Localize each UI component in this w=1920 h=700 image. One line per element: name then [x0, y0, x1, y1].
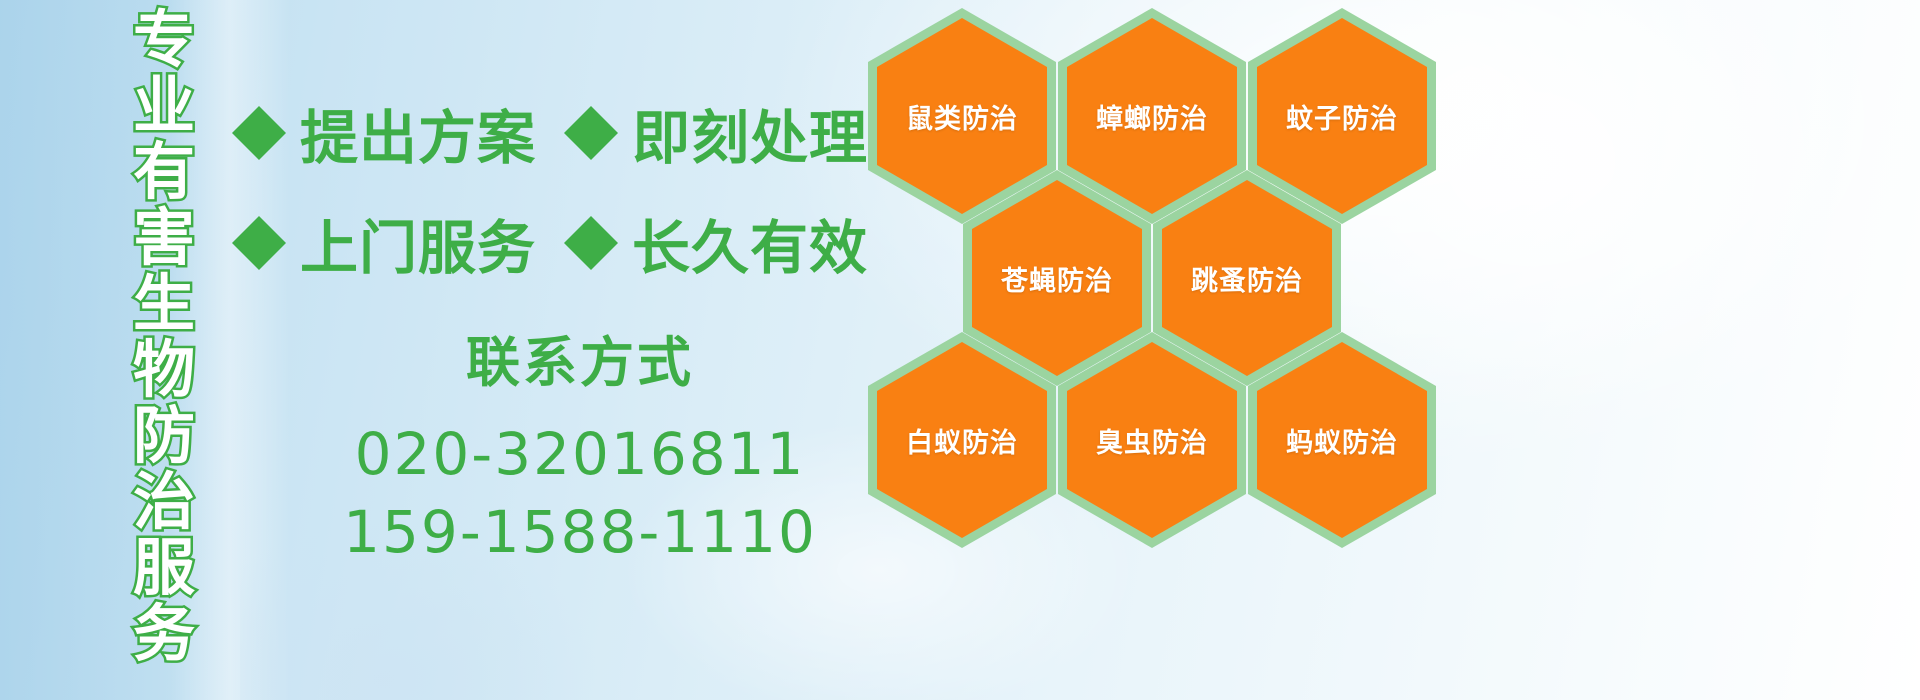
diamond-icon — [564, 189, 618, 243]
service-label: 白蚁防治 — [906, 421, 1018, 460]
feature-item: 上门服务 — [232, 201, 536, 285]
diamond-icon — [232, 79, 286, 133]
service-label: 蚂蚁防治 — [1286, 421, 1398, 460]
headline-char: 防 — [133, 404, 195, 470]
contact-phone-mobile[interactable]: 159-1588-1110 — [300, 493, 860, 571]
headline-char: 生 — [133, 272, 195, 338]
feature-label: 长久有效 — [632, 201, 868, 285]
feature-item: 长久有效 — [564, 201, 868, 285]
feature-row: 提出方案 即刻处理 — [232, 78, 862, 188]
headline-char: 务 — [133, 602, 195, 668]
headline-char: 害 — [133, 206, 195, 272]
diamond-icon — [232, 189, 286, 243]
feature-label: 上门服务 — [300, 201, 536, 285]
service-label: 跳蚤防治 — [1191, 259, 1303, 298]
feature-list: 提出方案 即刻处理 上门服务 长久有效 — [232, 78, 862, 298]
headline-char: 物 — [133, 338, 195, 404]
headline-char: 业 — [133, 74, 195, 140]
diamond-icon — [564, 79, 618, 133]
service-label: 苍蝇防治 — [1001, 259, 1113, 298]
feature-item: 提出方案 — [232, 91, 536, 175]
headline-char: 服 — [133, 536, 195, 602]
feature-label: 即刻处理 — [632, 91, 868, 175]
service-label: 鼠类防治 — [906, 97, 1018, 136]
headline-char: 有 — [133, 140, 195, 206]
vertical-headline: 专 业 有 害 生 物 防 治 服 务 — [112, 8, 216, 680]
service-label: 蚊子防治 — [1286, 97, 1398, 136]
contact-phone-landline[interactable]: 020-32016811 — [300, 415, 860, 493]
feature-label: 提出方案 — [300, 91, 536, 175]
headline-char: 治 — [133, 470, 195, 536]
headline-char: 专 — [133, 8, 195, 74]
feature-item: 即刻处理 — [564, 91, 868, 175]
contact-block: 联系方式 020-32016811 159-1588-1110 — [300, 318, 860, 571]
contact-title: 联系方式 — [300, 318, 860, 397]
promo-banner: 专 业 有 害 生 物 防 治 服 务 提出方案 即刻处理 上门服务 — [0, 0, 1920, 700]
service-label: 臭虫防治 — [1096, 421, 1208, 460]
service-hexagon-grid: 鼠类防治 蟑螂防治 蚊子防治 苍蝇防治 跳蚤防治 白蚁防治 臭虫防治 蚂蚁 — [862, 0, 1462, 700]
service-label: 蟑螂防治 — [1096, 97, 1208, 136]
feature-row: 上门服务 长久有效 — [232, 188, 862, 298]
